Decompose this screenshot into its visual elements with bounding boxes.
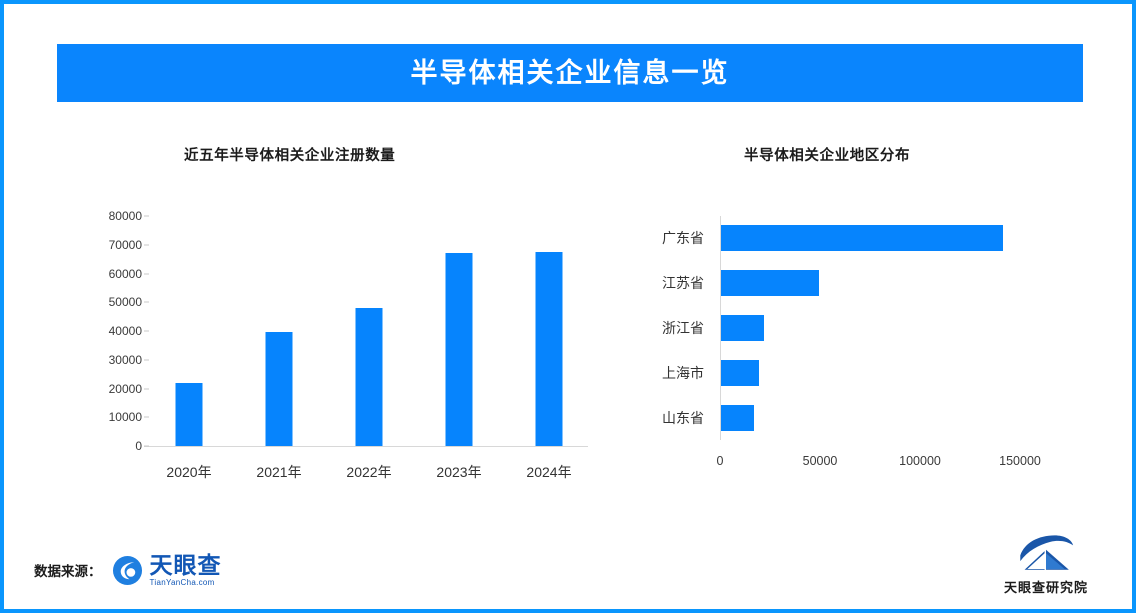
horizontal-chart-x-tick-label: 50000 [803, 454, 838, 468]
vertical-chart-y-tick-mark [144, 359, 149, 360]
vertical-chart-y-tick-label: 50000 [109, 295, 142, 309]
vertical-chart-y-tick-label: 60000 [109, 267, 142, 281]
vertical-chart-x-tick-label: 2021年 [234, 462, 324, 482]
tianyancha-name-en: TianYanCha.com [150, 579, 222, 587]
vertical-chart-plot-area [144, 216, 594, 447]
page-title: 半导体相关企业信息一览 [411, 60, 730, 87]
research-institute-logo-icon [1017, 534, 1075, 574]
vertical-chart-y-tick-mark [144, 244, 149, 245]
vertical-chart-y-axis: 0100002000030000400005000060000700008000… [74, 216, 142, 447]
vertical-chart-y-tick-label: 70000 [109, 238, 142, 252]
registration-count-chart-panel: 近五年半导体相关企业注册数量 0100002000030000400005000… [74, 144, 594, 504]
vertical-chart-y-tick-label: 30000 [109, 353, 142, 367]
vertical-chart-bar-slot [414, 216, 504, 446]
vertical-chart-bar[interactable] [176, 383, 203, 446]
vertical-chart-x-tick-label: 2023年 [414, 462, 504, 482]
tianyancha-logo: 天眼查 TianYanCha.com [112, 554, 222, 587]
header-banner: 半导体相关企业信息一览 [57, 44, 1083, 102]
horizontal-chart-bar[interactable] [721, 225, 1003, 251]
horizontal-bar-chart: 广东省江苏省浙江省上海市山东省050000100000150000 [604, 216, 1074, 496]
horizontal-chart-x-tick-label: 150000 [999, 454, 1041, 468]
vertical-chart-y-tick-mark [144, 216, 149, 217]
vertical-chart-bar-slot [504, 216, 594, 446]
vertical-chart-bar-slot [234, 216, 324, 446]
vertical-chart-y-tick-mark [144, 417, 149, 418]
right-chart-title: 半导体相关企业地区分布 [744, 144, 1074, 165]
vertical-chart-x-tick-label: 2022年 [324, 462, 414, 482]
vertical-chart-y-tick-label: 20000 [109, 382, 142, 396]
horizontal-chart-bar[interactable] [721, 315, 764, 341]
vertical-chart-bar[interactable] [356, 308, 383, 446]
data-source-footer: 数据来源： 天眼查 TianYanCha.com [34, 552, 222, 588]
vertical-chart-bar-slot [144, 216, 234, 446]
horizontal-chart-category-label: 山东省 [604, 408, 704, 428]
left-chart-title: 近五年半导体相关企业注册数量 [184, 144, 594, 165]
vertical-chart-baseline [144, 446, 588, 447]
vertical-chart-y-tick-mark [144, 388, 149, 389]
horizontal-chart-category-label: 江苏省 [604, 273, 704, 293]
horizontal-chart-plot-area [720, 216, 1040, 440]
horizontal-chart-bar[interactable] [721, 360, 759, 386]
vertical-chart-y-tick-mark [144, 302, 149, 303]
tianyancha-wordmark: 天眼查 TianYanCha.com [150, 554, 222, 587]
infographic-page: 半导体相关企业信息一览 近五年半导体相关企业注册数量 0100002000030… [0, 0, 1136, 613]
vertical-chart-x-tick-label: 2020年 [144, 462, 234, 482]
vertical-chart-x-tick-label: 2024年 [504, 462, 594, 482]
horizontal-chart-category-label: 上海市 [604, 363, 704, 383]
region-distribution-chart-panel: 半导体相关企业地区分布 广东省江苏省浙江省上海市山东省0500001000001… [604, 144, 1074, 504]
vertical-chart-bar[interactable] [536, 252, 563, 446]
vertical-chart-y-tick-label: 0 [135, 439, 142, 453]
vertical-chart-y-tick-label: 80000 [109, 209, 142, 223]
tianyancha-name-cn: 天眼查 [150, 554, 222, 577]
vertical-chart-y-tick-mark [144, 331, 149, 332]
research-institute-name: 天眼查研究院 [1004, 577, 1088, 596]
horizontal-chart-bar[interactable] [721, 270, 819, 296]
vertical-chart-bar-slot [324, 216, 414, 446]
horizontal-chart-x-tick-label: 100000 [899, 454, 941, 468]
horizontal-chart-bar[interactable] [721, 405, 754, 431]
vertical-bar-chart: 0100002000030000400005000060000700008000… [74, 216, 594, 486]
vertical-chart-y-tick-mark [144, 446, 149, 447]
horizontal-chart-category-label: 浙江省 [604, 318, 704, 338]
vertical-chart-bar[interactable] [266, 332, 293, 446]
research-institute-brand: 天眼查研究院 [986, 534, 1106, 596]
vertical-chart-y-tick-mark [144, 273, 149, 274]
data-source-label: 数据来源： [34, 560, 102, 580]
vertical-chart-y-tick-label: 10000 [109, 410, 142, 424]
horizontal-chart-category-label: 广东省 [604, 228, 704, 248]
vertical-chart-bar[interactable] [446, 253, 473, 446]
vertical-chart-y-tick-label: 40000 [109, 324, 142, 338]
horizontal-chart-x-tick-label: 0 [717, 454, 724, 468]
tianyancha-eye-icon [112, 555, 143, 586]
